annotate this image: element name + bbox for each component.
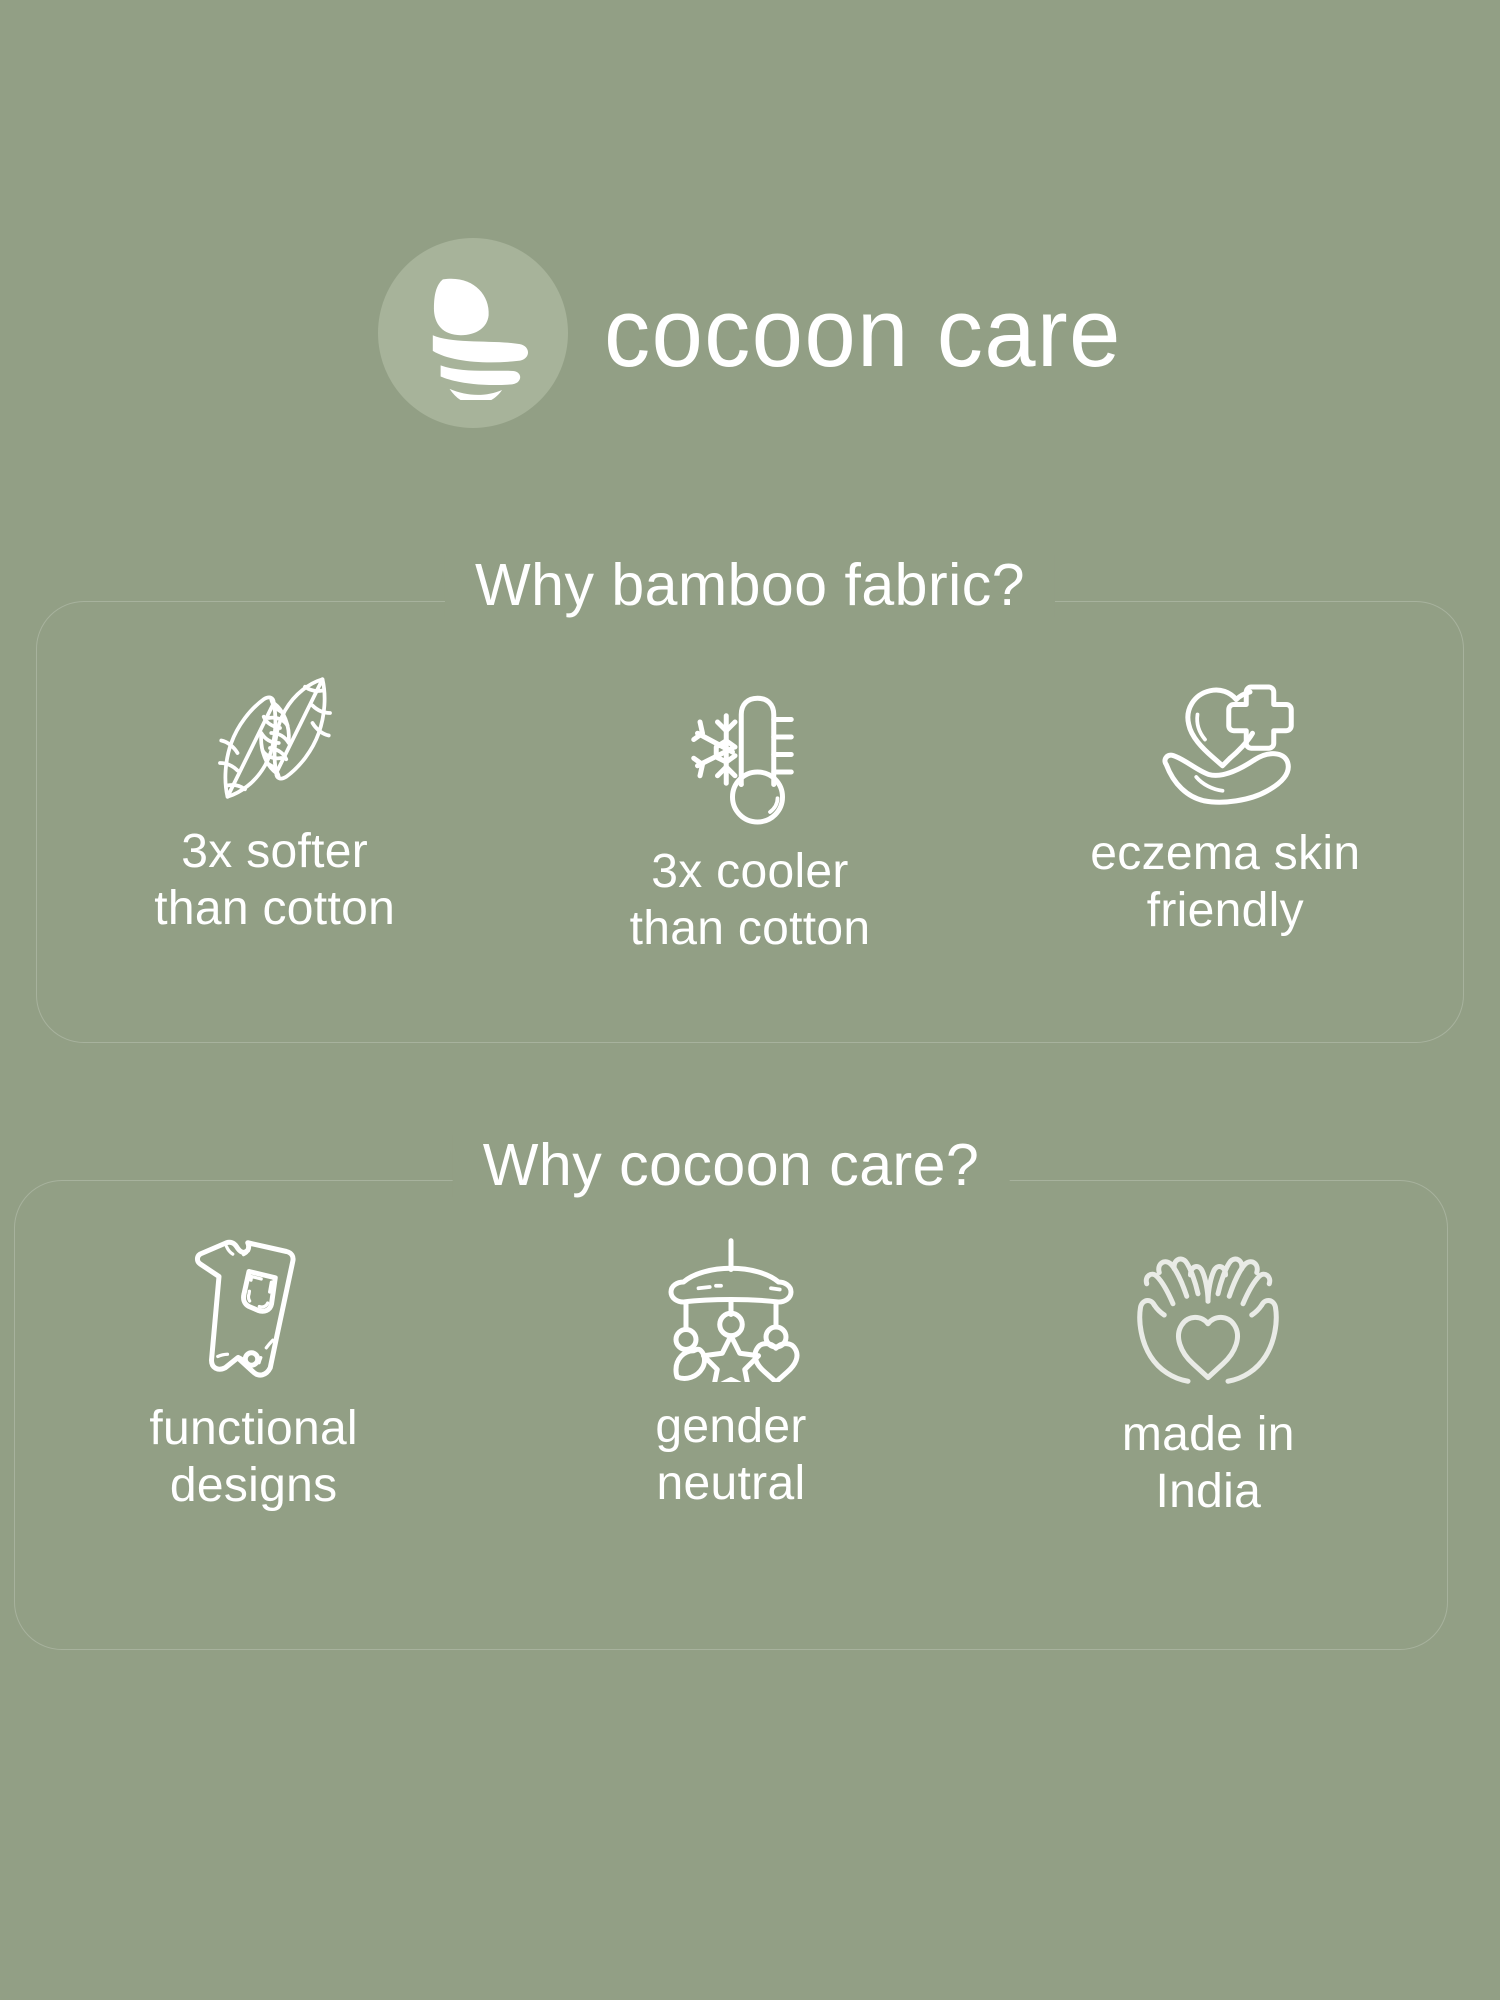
feature-made-in-india: made in India xyxy=(972,1239,1445,1520)
feature-grid-cocoon: functional designs xyxy=(15,1231,1447,1520)
feature-label: functional designs xyxy=(149,1401,357,1514)
hands-heart-icon xyxy=(1133,1239,1283,1391)
baby-onesie-icon xyxy=(179,1233,329,1385)
section-heading-bamboo: Why bamboo fabric? xyxy=(445,555,1055,617)
baby-mobile-icon xyxy=(656,1231,806,1383)
section-card-bamboo: Why bamboo fabric? xyxy=(36,601,1464,1043)
feature-grid-bamboo: 3x softer than cotton xyxy=(37,662,1463,957)
feathers-icon xyxy=(200,662,350,814)
brand-header: cocoon care xyxy=(0,238,1500,428)
thermometer-snowflake-icon xyxy=(675,676,825,828)
feature-label: 3x cooler than cotton xyxy=(630,844,871,957)
logo-badge xyxy=(378,238,568,428)
section-card-cocoon: Why cocoon care? xyxy=(14,1180,1448,1650)
feature-functional-designs: functional designs xyxy=(17,1233,490,1514)
brand-wordmark: cocoon care xyxy=(604,284,1122,382)
feature-gender-neutral: gender neutral xyxy=(495,1231,968,1512)
feature-label: 3x softer than cotton xyxy=(154,824,395,937)
section-heading-cocoon: Why cocoon care? xyxy=(453,1135,1010,1197)
heart-cross-hand-icon xyxy=(1150,666,1300,818)
feature-label: made in India xyxy=(1122,1407,1295,1520)
feature-label: gender neutral xyxy=(655,1399,806,1512)
cocoon-baby-swaddle-logo xyxy=(406,266,540,400)
feature-3x-cooler: 3x cooler than cotton xyxy=(515,676,986,957)
feature-eczema-friendly: eczema skin friendly xyxy=(990,666,1461,939)
feature-label: eczema skin friendly xyxy=(1090,826,1360,939)
feature-3x-softer: 3x softer than cotton xyxy=(39,662,510,937)
